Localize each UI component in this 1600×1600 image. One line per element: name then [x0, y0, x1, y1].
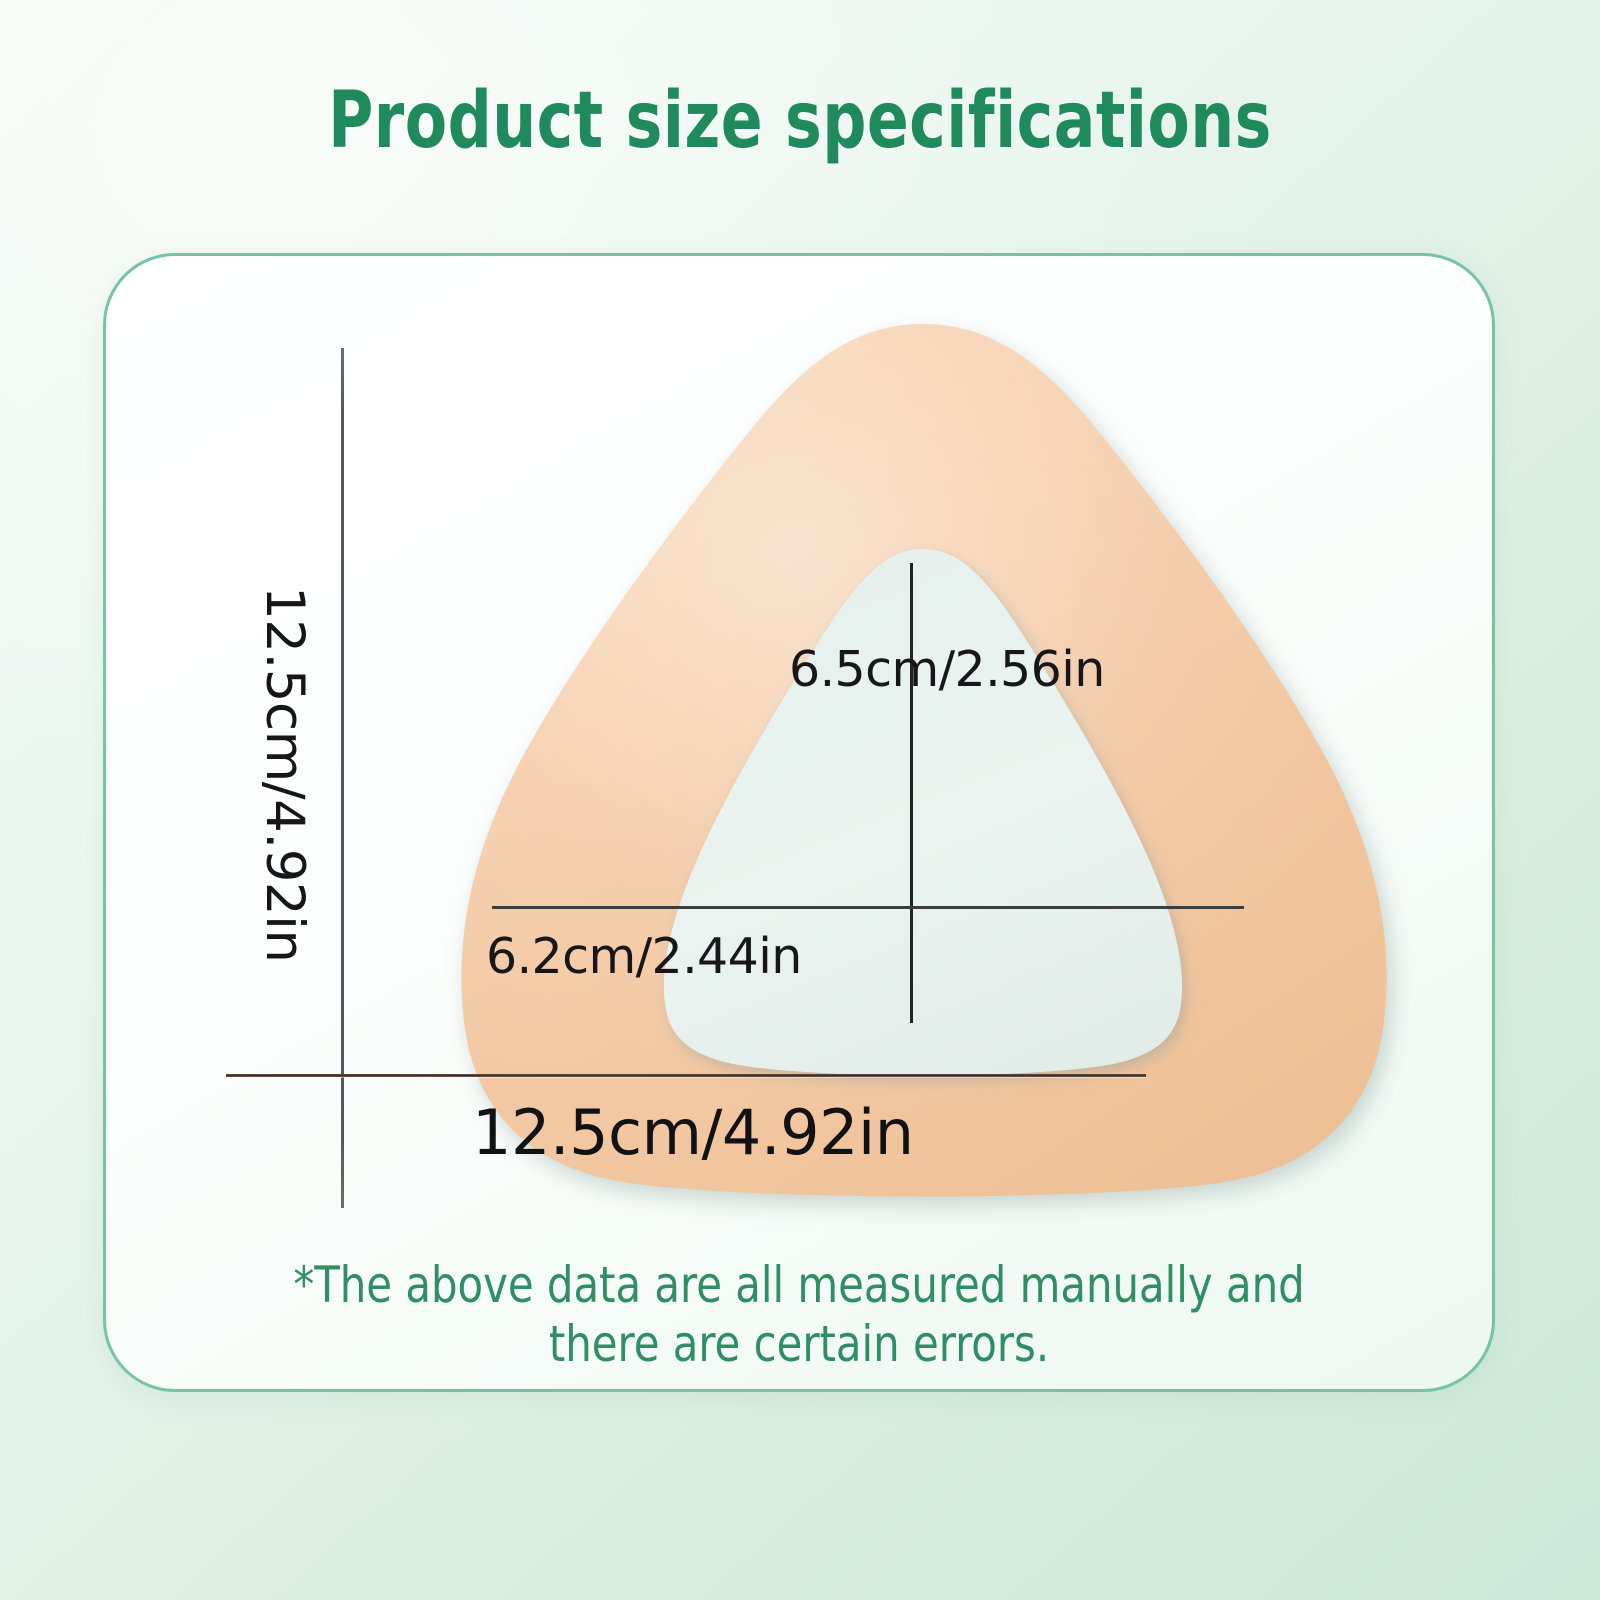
overall-width-line [226, 1074, 1146, 1077]
specification-card: 12.5cm/4.92in 6.5cm/2.56in 6.2cm/2.44in … [103, 253, 1495, 1392]
overall-height-label: 12.5cm/4.92in [254, 586, 315, 962]
overall-width-label: 12.5cm/4.92in [472, 1096, 914, 1169]
page-title: Product size specifications [96, 76, 1504, 166]
hole-height-label: 6.5cm/2.56in [789, 641, 1105, 698]
hole-width-label: 6.2cm/2.44in [486, 928, 802, 985]
measurement-disclaimer: *The above data are all measured manuall… [238, 1256, 1360, 1374]
hole-width-line-right [914, 906, 1244, 909]
hole-width-line-left [492, 906, 914, 909]
height-ruler-line [341, 348, 344, 1208]
hole-height-line [910, 563, 913, 1023]
